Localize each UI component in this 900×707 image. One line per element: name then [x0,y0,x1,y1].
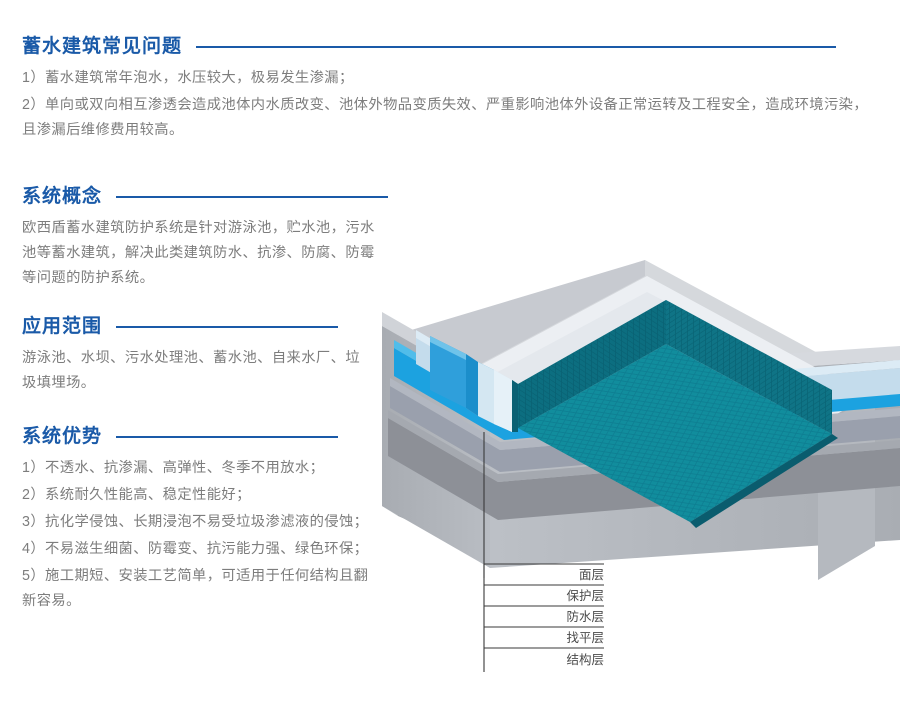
section-scope: 应用范围 游泳池、水坝、污水处理池、蓄水池、自来水厂、垃圾填埋场。 [22,316,422,398]
section-header-advantage: 系统优势 [22,426,422,449]
section-rule-concept [116,196,388,198]
paragraph-problems-1: 1）蓄水建筑常年泡水，水压较大，极易发生渗漏； [22,66,882,91]
section-rule-scope [116,326,338,328]
section-rule-advantage [116,436,338,438]
paragraph-scope-1: 游泳池、水坝、污水处理池、蓄水池、自来水厂、垃圾填埋场。 [22,346,374,396]
paragraph-problems-2: 2）单向或双向相互渗透会造成池体内水质改变、池体外物品变质失效、严重影响池体外设… [22,93,882,143]
section-rule-problems [196,46,836,48]
section-concept: 系统概念 欧西盾蓄水建筑防护系统是针对游泳池，贮水池，污水池等蓄水建筑，解决此类… [22,186,422,293]
section-advantage: 系统优势 1）不透水、抗渗漏、高弹性、冬季不用放水； 2）系统耐久性能高、稳定性… [22,426,422,616]
section-header-scope: 应用范围 [22,316,422,339]
section-problems: 蓄水建筑常见问题 1）蓄水建筑常年泡水，水压较大，极易发生渗漏； 2）单向或双向… [22,36,888,145]
section-header-problems: 蓄水建筑常见问题 [22,36,888,59]
paragraph-advantage-4: 4）不易滋生细菌、防霉变、抗污能力强、绿色环保； [22,537,378,562]
paragraph-advantage-5: 5）施工期短、安装工艺简单，可适用于任何结构且翻新容易。 [22,564,378,614]
section-header-concept: 系统概念 [22,186,422,209]
section-title-concept: 系统概念 [22,186,102,209]
content-column: 蓄水建筑常见问题 1）蓄水建筑常年泡水，水压较大，极易发生渗漏； 2）单向或双向… [0,0,900,707]
paragraph-advantage-2: 2）系统耐久性能高、稳定性能好； [22,483,378,508]
section-title-scope: 应用范围 [22,316,102,339]
paragraph-advantage-1: 1）不透水、抗渗漏、高弹性、冬季不用放水； [22,456,378,481]
paragraph-concept-1: 欧西盾蓄水建筑防护系统是针对游泳池，贮水池，污水池等蓄水建筑，解决此类建筑防水、… [22,216,388,291]
page-root: 面层 保护层 防水层 找平层 结构层 [0,0,900,707]
section-title-problems: 蓄水建筑常见问题 [22,36,182,59]
section-title-advantage: 系统优势 [22,426,102,449]
paragraph-advantage-3: 3）抗化学侵蚀、长期浸泡不易受垃圾渗滤液的侵蚀； [22,510,378,535]
